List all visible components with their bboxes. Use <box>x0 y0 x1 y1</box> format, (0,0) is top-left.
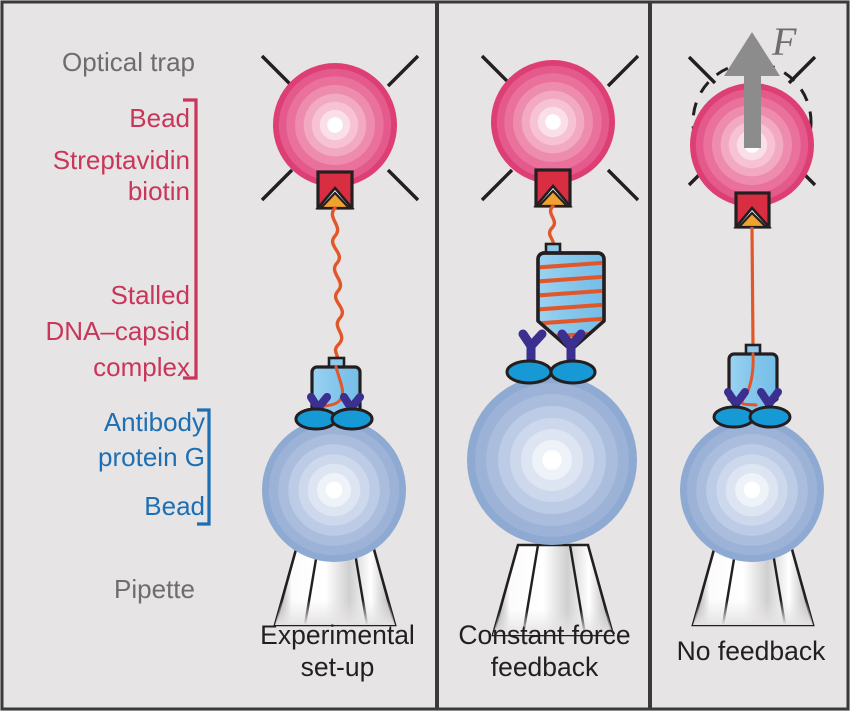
streptavidin-biotin-linker-1 <box>318 172 352 208</box>
pipette-bead-blue-1 <box>262 418 406 562</box>
label-streptavidin: Streptavidin <box>53 146 190 176</box>
caption-panel-2-line1: Constant force <box>442 620 647 651</box>
dna-tether-3 <box>752 227 753 347</box>
pipette-bead-blue-2 <box>467 375 637 545</box>
label-dna-capsid: DNA–capsid <box>45 317 190 347</box>
trapped-bead-pink-1 <box>273 63 397 187</box>
label-biotin: biotin <box>128 177 190 207</box>
protein-g-left-1-front <box>296 409 336 429</box>
caption-panel-1-line2: set-up <box>240 652 435 683</box>
pipette-bead-blue-3 <box>680 418 824 562</box>
protein-g-right-1-front <box>332 409 372 429</box>
label-bead-bottom: Bead <box>144 492 205 522</box>
figure-root: Optical trap Bead Streptavidin biotin St… <box>0 0 850 711</box>
label-pipette: Pipette <box>114 575 195 605</box>
streptavidin-biotin-linker-3 <box>736 193 769 227</box>
label-antibody: Antibody <box>104 408 205 438</box>
label-complex: complex <box>93 353 190 383</box>
label-bead-top: Bead <box>129 104 190 134</box>
caption-panel-1-line1: Experimental <box>240 620 435 651</box>
streptavidin-biotin-linker-2 <box>536 170 570 206</box>
protein-g-left-3 <box>714 407 754 427</box>
protein-g-right-2 <box>551 361 595 383</box>
caption-panel-3-line1: No feedback <box>655 636 847 667</box>
label-stalled: Stalled <box>111 281 191 311</box>
protein-g-right-3 <box>750 407 790 427</box>
label-protein-g: protein G <box>98 443 205 473</box>
caption-panel-2-line2: feedback <box>442 652 647 683</box>
label-force-symbol: F <box>772 18 796 65</box>
protein-g-left-2 <box>507 361 551 383</box>
trapped-bead-pink-2 <box>491 60 615 184</box>
label-optical-trap: Optical trap <box>62 48 195 78</box>
